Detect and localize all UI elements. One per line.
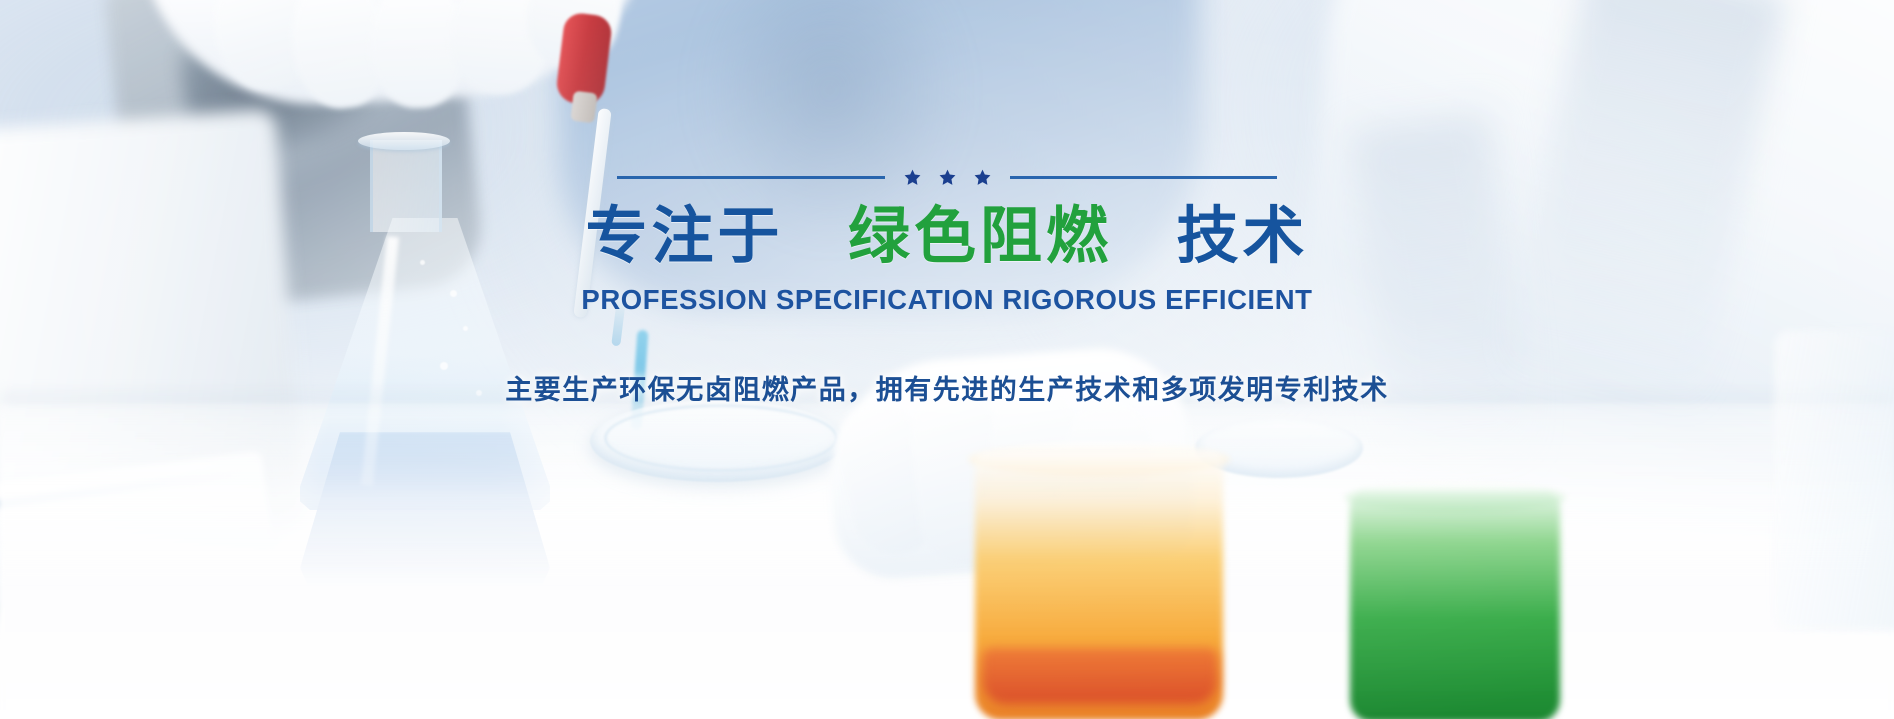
- banner-content: 专注于 绿色阻燃 技术 PROFESSION SPECIFICATION RIG…: [0, 0, 1894, 719]
- headline-part-2: 绿色阻燃: [848, 202, 1112, 271]
- star-icon: [938, 168, 957, 187]
- headline-part-1: 专注于: [586, 202, 784, 271]
- divider-line-left: [617, 176, 885, 179]
- decorative-divider: [617, 168, 1277, 187]
- divider-line-right: [1010, 176, 1278, 179]
- hero-banner: 专注于 绿色阻燃 技术 PROFESSION SPECIFICATION RIG…: [0, 0, 1894, 719]
- star-group: [903, 168, 992, 187]
- page-title: 专注于 绿色阻燃 技术: [586, 205, 1309, 268]
- headline-part-3: 技术: [1176, 202, 1308, 271]
- star-icon: [973, 168, 992, 187]
- tagline-text: 主要生产环保无卤阻燃产品，拥有先进的生产技术和多项发明专利技术: [505, 368, 1389, 407]
- star-icon: [903, 168, 922, 187]
- english-subtitle: PROFESSION SPECIFICATION RIGOROUS EFFICI…: [581, 284, 1312, 316]
